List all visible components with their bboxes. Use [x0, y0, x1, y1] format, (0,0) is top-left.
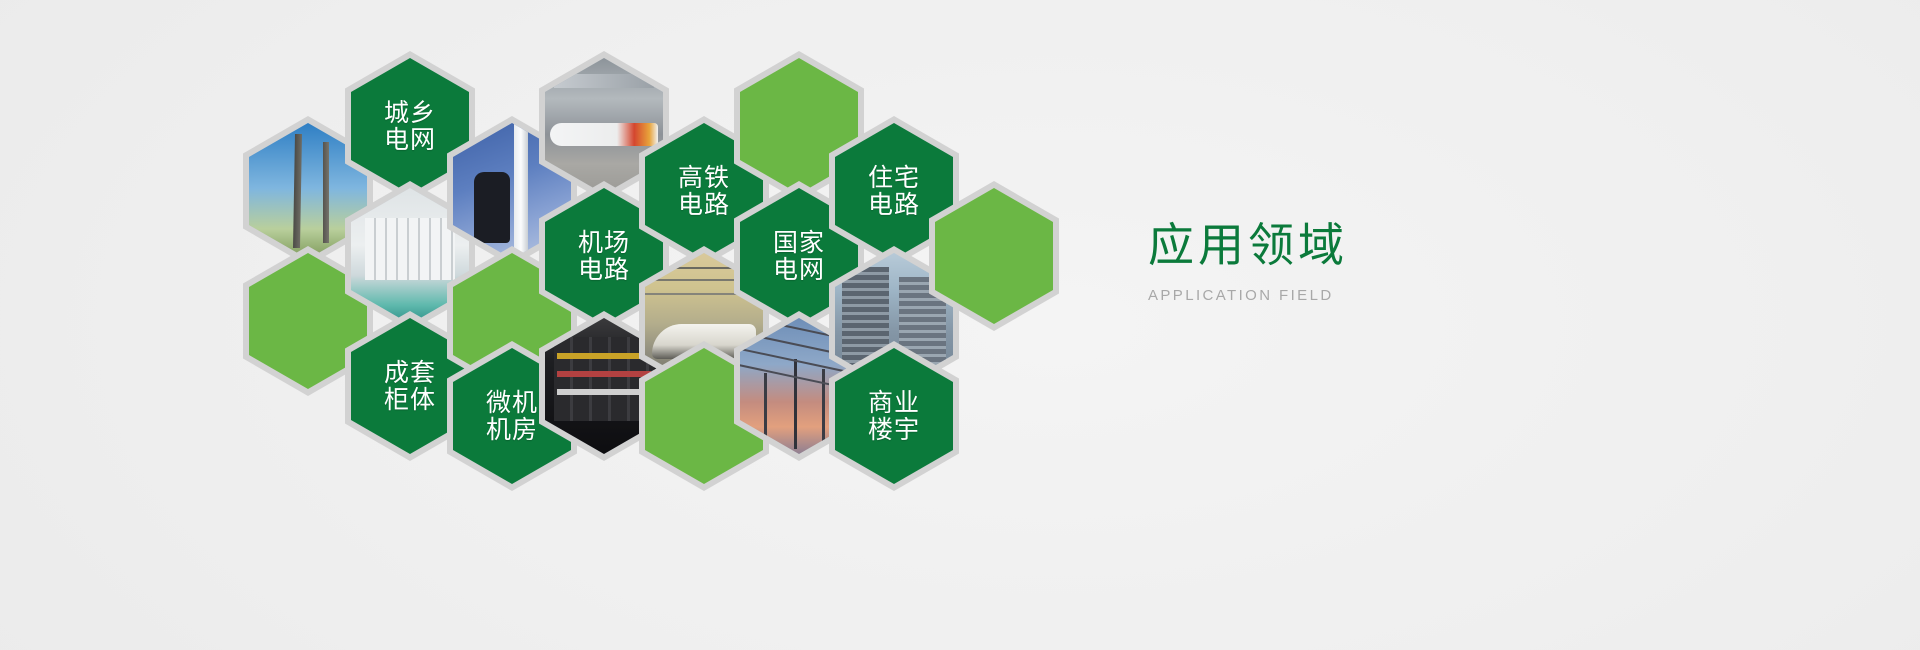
honeycomb-grid: 城乡 电网成套 柜体微机 机房机场 电路高铁 电路国家 电网住宅 电路商业 楼宇 — [0, 0, 1920, 650]
hex-label-tile-weiji-jifang: 微机 机房 — [486, 389, 538, 443]
hex-label-tile-zhuzhai-dianlu: 住宅 电路 — [868, 164, 920, 218]
hex-face-tile-shangye-louyu: 商业 楼宇 — [835, 348, 953, 484]
page-title: 应用领域 — [1148, 218, 1568, 273]
hex-label-tile-chengtao-guiti: 成套 柜体 — [384, 359, 436, 413]
hex-label-tile-chengxiang-dianwang: 城乡 电网 — [384, 99, 436, 153]
hex-face-tile-blank-5 — [935, 188, 1053, 324]
hex-label-tile-gaotie-dianlu: 高铁 电路 — [678, 164, 730, 218]
banner-stage: 城乡 电网成套 柜体微机 机房机场 电路高铁 电路国家 电网住宅 电路商业 楼宇… — [0, 0, 1920, 650]
hex-label-tile-shangye-louyu: 商业 楼宇 — [868, 389, 920, 443]
hex-label-tile-jichang-dianlu: 机场 电路 — [578, 229, 630, 283]
title-block: 应用领域 APPLICATION FIELD — [1148, 218, 1568, 304]
page-subtitle: APPLICATION FIELD — [1148, 287, 1568, 304]
hex-label-tile-guojia-dianwang: 国家 电网 — [773, 229, 825, 283]
